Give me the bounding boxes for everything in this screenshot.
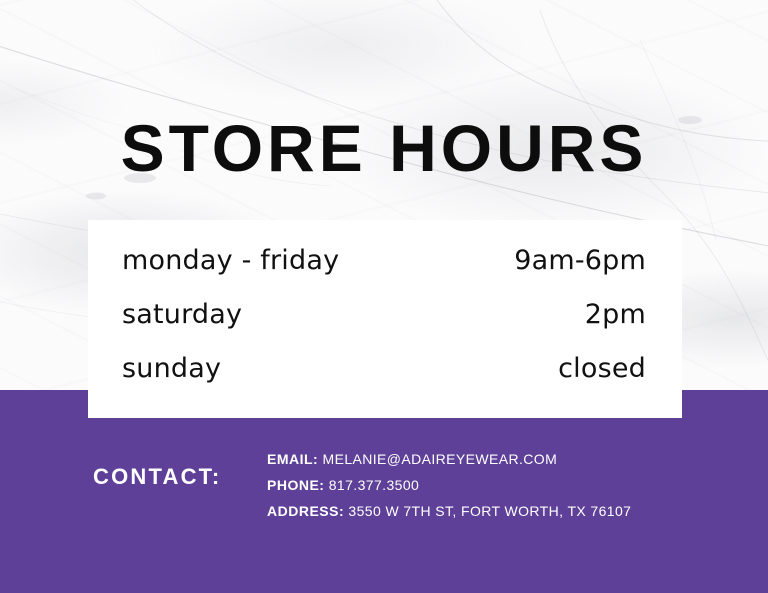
contact-phone-key: PHONE: bbox=[267, 477, 324, 493]
contact-section: CONTACT: EMAIL: MELANIE@ADAIREYEWEAR.COM… bbox=[0, 440, 768, 535]
contact-address-line: ADDRESS: 3550 W 7TH ST, FORT WORTH, TX 7… bbox=[267, 498, 737, 524]
hours-time-value: closed bbox=[558, 352, 646, 386]
hours-time-value: 9am-6pm bbox=[514, 244, 646, 278]
contact-email-line: EMAIL: MELANIE@ADAIREYEWEAR.COM bbox=[267, 446, 737, 472]
hours-day-label: saturday bbox=[122, 298, 242, 332]
hours-row: sunday closed bbox=[122, 352, 646, 406]
contact-phone-line: PHONE: 817.377.3500 bbox=[267, 472, 737, 498]
contact-phone-value[interactable]: 817.377.3500 bbox=[329, 477, 419, 493]
hours-time-value: 2pm bbox=[585, 298, 646, 332]
contact-heading: CONTACT: bbox=[93, 464, 221, 490]
contact-details: EMAIL: MELANIE@ADAIREYEWEAR.COM PHONE: 8… bbox=[267, 446, 737, 524]
store-hours-poster: STORE HOURS monday - friday 9am-6pm satu… bbox=[0, 0, 768, 593]
hours-day-label: sunday bbox=[122, 352, 221, 386]
contact-email-value[interactable]: MELANIE@ADAIREYEWEAR.COM bbox=[323, 451, 558, 467]
page-title: STORE HOURS bbox=[0, 112, 768, 184]
hours-list: monday - friday 9am-6pm saturday 2pm sun… bbox=[122, 244, 646, 406]
contact-address-key: ADDRESS: bbox=[267, 503, 344, 519]
hours-day-label: monday - friday bbox=[122, 244, 339, 278]
hours-card: monday - friday 9am-6pm saturday 2pm sun… bbox=[88, 220, 682, 418]
contact-email-key: EMAIL: bbox=[267, 451, 318, 467]
contact-address-value: 3550 W 7TH ST, FORT WORTH, TX 76107 bbox=[348, 503, 631, 519]
hours-row: saturday 2pm bbox=[122, 298, 646, 352]
hours-row: monday - friday 9am-6pm bbox=[122, 244, 646, 298]
